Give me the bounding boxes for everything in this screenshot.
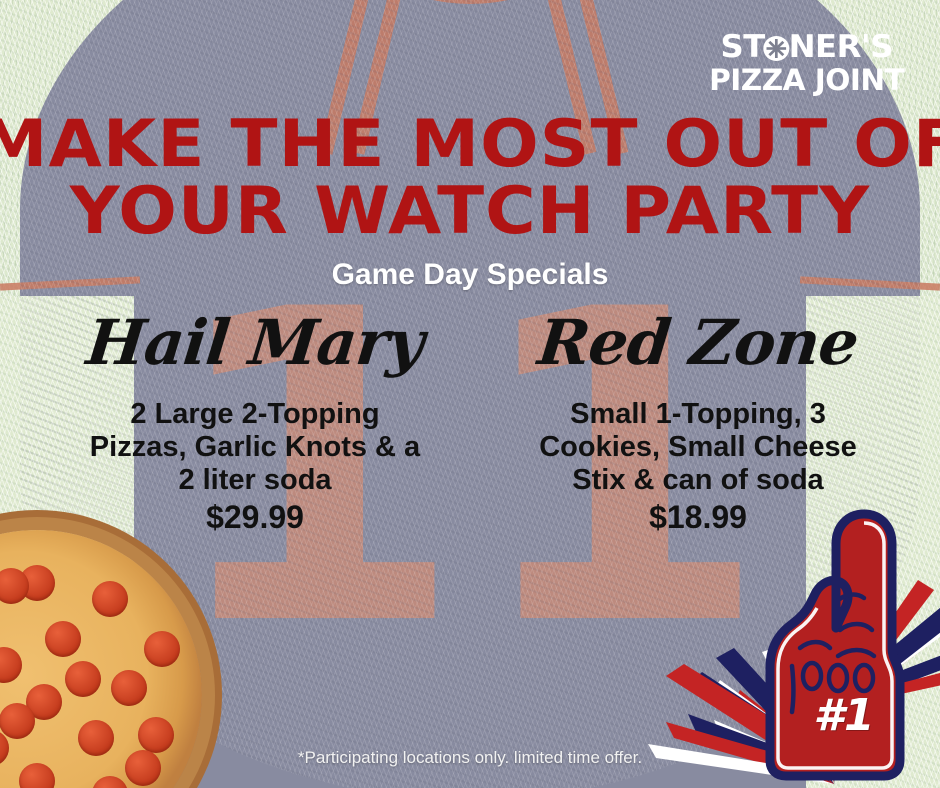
brand-logo-suffix: NER'S [788, 29, 892, 65]
brand-logo-prefix: ST [720, 29, 764, 65]
pepperoni-slice [0, 647, 22, 683]
deal-card-red-zone: Red Zone Small 1-Topping, 3 Cookies, Sma… [478, 300, 918, 535]
foam-finger-icon: #1 [752, 498, 922, 788]
pepperoni-slice [92, 581, 128, 617]
headline-line-1: MAKE THE MOST OUT OF [0, 112, 940, 178]
star-burst-icon [763, 36, 789, 61]
brand-logo: ST NER'S PIZZA JOINT [711, 30, 902, 96]
headline-line-2: YOUR WATCH PARTY [0, 178, 940, 246]
page-title: MAKE THE MOST OUT OF YOUR WATCH PARTY [0, 112, 940, 246]
pepperoni-slice [45, 621, 81, 657]
deal-description: Small 1-Topping, 3 Cookies, Small Cheese… [478, 398, 918, 497]
pepperoni-slice [65, 661, 101, 697]
pepperoni-slice [0, 703, 35, 739]
deal-price: $29.99 [30, 499, 480, 535]
pepperoni-slice [0, 568, 29, 604]
pepperoni-slice [92, 776, 128, 788]
disclaimer-text: *Participating locations only. limited t… [0, 748, 940, 768]
brand-logo-line-2: PIZZA JOINT [709, 64, 904, 96]
promotional-poster: 11 ST NER'S PIZZA JOINT MAKE THE MOST OU… [0, 0, 940, 788]
deal-title: Hail Mary [25, 300, 484, 386]
deal-title: Red Zone [473, 300, 922, 386]
brand-logo-line-1: ST NER'S [707, 30, 906, 64]
deal-description: 2 Large 2-Topping Pizzas, Garlic Knots &… [30, 398, 480, 497]
deal-price: $18.99 [478, 499, 918, 535]
subheading: Game Day Specials [0, 258, 940, 292]
foam-finger-label: #1 [796, 690, 892, 741]
pepperoni-slice [111, 670, 147, 706]
pepperoni-slice [144, 631, 180, 667]
deal-card-hail-mary: Hail Mary 2 Large 2-Topping Pizzas, Garl… [30, 300, 480, 535]
